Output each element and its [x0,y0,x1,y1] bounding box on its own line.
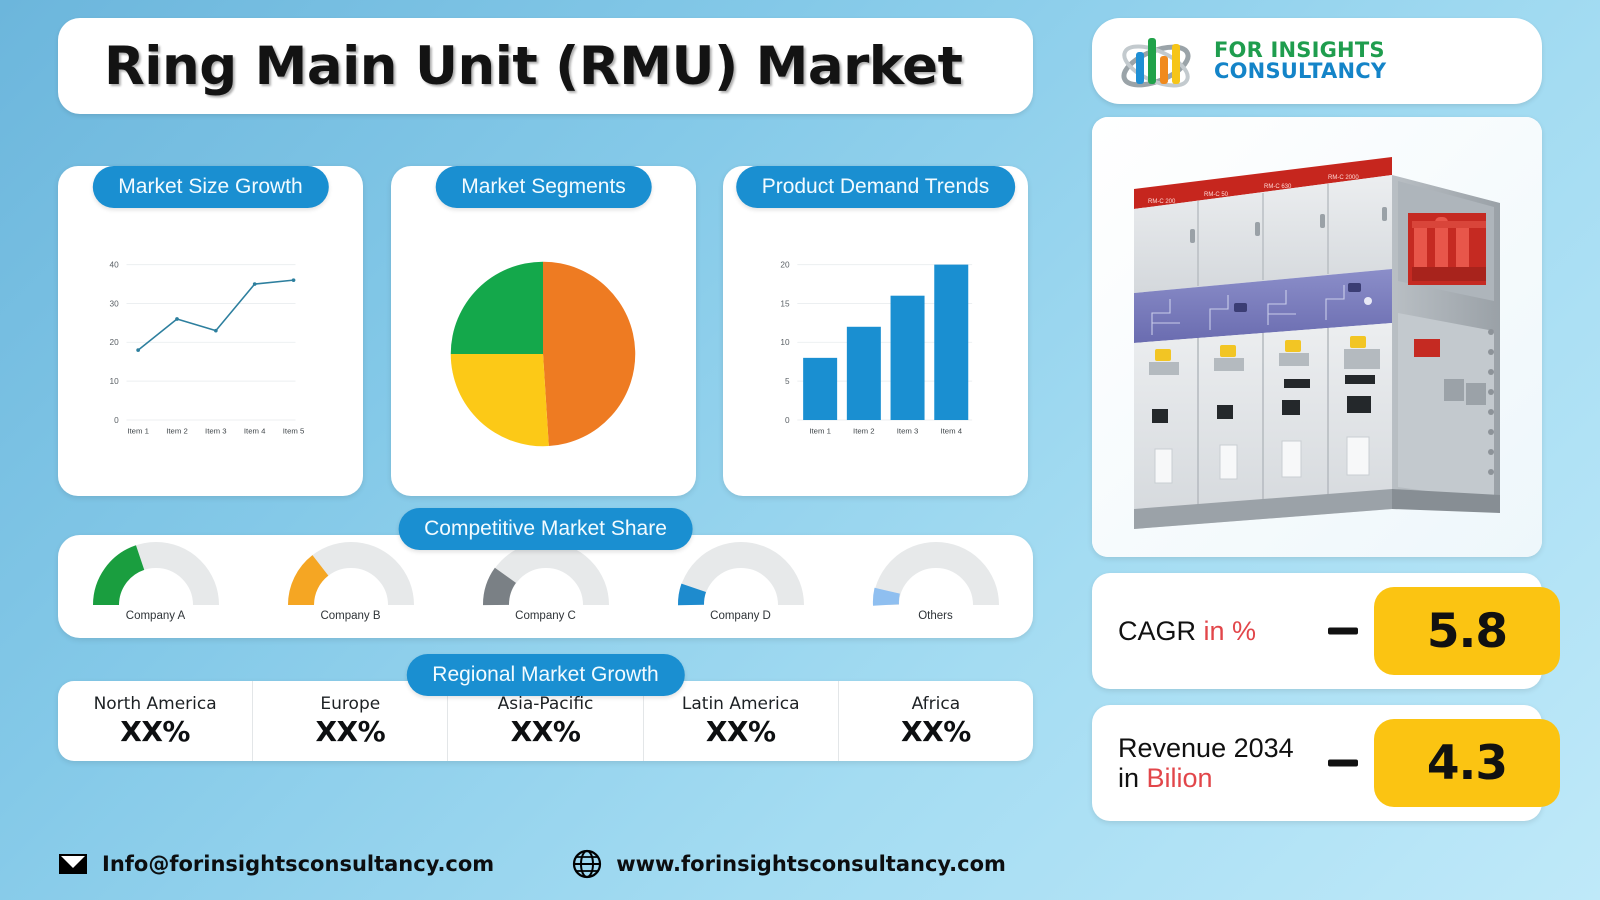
stat-dash-revenue [1328,760,1358,767]
region-value: XX% [706,715,776,748]
bar-chart-swoosh-logo-icon [1110,30,1202,92]
regional-market-growth-section: Regional Market Growth North America XX%… [58,654,1033,774]
gauge-arc-company-a [92,541,220,609]
stat-value-cagr: 5.8 [1427,604,1507,659]
gauge-company-a: Company A [78,541,233,622]
panel-title-product-demand: Product Demand Trends [736,166,1016,208]
region-value: XX% [120,715,190,748]
gauge-label-company-a: Company A [78,610,233,622]
gauge-arc-company-c [482,541,610,609]
svg-text:0: 0 [114,416,119,425]
product-demand-chart: 20 15 10 5 0 Item 1 Item 2 Item 3 Item 4 [723,218,1028,488]
product-image-card: RM-C 200RM-C 50 RM-C 630RM-C 2000 [1092,117,1542,557]
region-name: Asia-Pacific [498,694,594,714]
globe-icon [572,849,602,879]
svg-text:40: 40 [110,261,120,270]
svg-text:10: 10 [110,377,120,386]
charts-row: Market Size Growth 40 30 20 10 0 [58,138,1033,498]
svg-text:Item 1: Item 1 [127,427,149,436]
page-title: Ring Main Unit (RMU) Market [104,36,962,97]
footer-email-text: Info@forinsightsconsultancy.com [102,852,494,876]
brand-logo-text: FOR INSIGHTS CONSULTANCY [1214,40,1386,83]
gauge-arc-company-b [287,541,415,609]
card-product-demand-trends: Product Demand Trends 20 15 10 5 0 [723,166,1028,496]
gauge-label-company-d: Company D [663,610,818,622]
region-value: XX% [511,715,581,748]
gauge-company-b: Company B [273,541,428,622]
gauge-label-company-b: Company B [273,610,428,622]
gauge-arc-company-d [677,541,805,609]
gauge-label-company-c: Company C [468,610,623,622]
region-name: Africa [912,694,961,714]
gauge-label-others: Others [858,610,1013,622]
svg-text:Item 4: Item 4 [244,427,266,436]
panel-title-competitive: Competitive Market Share [398,508,693,550]
footer-email[interactable]: Info@forinsightsconsultancy.com [58,849,494,879]
bar-chart-svg: 20 15 10 5 0 Item 1 Item 2 Item 3 Item 4 [723,218,1028,488]
svg-text:Item 1: Item 1 [809,427,831,436]
stat-pill-revenue: 4.3 [1374,719,1560,807]
panel-title-regional: Regional Market Growth [406,654,684,696]
svg-text:Item 4: Item 4 [940,427,962,436]
card-market-size-growth: Market Size Growth 40 30 20 10 0 [58,166,363,496]
brand-logo-card[interactable]: FOR INSIGHTS CONSULTANCY [1092,18,1542,104]
page-title-card: Ring Main Unit (RMU) Market [58,18,1033,114]
stat-label-revenue-red: Bilion [1147,763,1213,793]
region-cell-north-america: North America XX% [58,681,253,761]
competitive-market-share-section: Competitive Market Share Company A Compa… [58,508,1033,648]
stat-label-revenue-black2: in [1118,763,1147,793]
logo-line-1: FOR INSIGHTS [1214,40,1386,61]
region-name: North America [94,694,217,714]
svg-text:Item 2: Item 2 [853,427,875,436]
gauge-arc-others [872,541,1000,609]
stat-dash-cagr [1328,628,1358,635]
gauges-card: Company A Company B Company C [58,535,1033,638]
card-market-segments: Market Segments [391,166,696,496]
ring-main-unit-switchgear-cabinet-image: RM-C 200RM-C 50 RM-C 630RM-C 2000 [1092,117,1542,557]
stat-value-revenue: 4.3 [1427,736,1507,791]
gauge-others: Others [858,541,1013,622]
footer-website[interactable]: www.forinsightsconsultancy.com [572,849,1006,879]
svg-text:10: 10 [780,338,790,347]
region-name: Latin America [682,694,800,714]
panel-title-market-segments: Market Segments [435,166,652,208]
envelope-icon [58,849,88,879]
svg-text:15: 15 [780,299,790,308]
logo-line-2: CONSULTANCY [1214,61,1386,82]
svg-text:Item 3: Item 3 [897,427,919,436]
footer-website-text: www.forinsightsconsultancy.com [616,852,1006,876]
stat-card-cagr: CAGR in % 5.8 [1092,573,1542,689]
svg-text:5: 5 [785,377,790,386]
line-chart-svg: 40 30 20 10 0 Item 1 Item 2 Item 3 [58,218,363,488]
stat-label-revenue: Revenue 2034in Bilion [1118,733,1294,793]
svg-text:30: 30 [110,299,120,308]
stat-label-revenue-black: Revenue 2034 [1118,733,1294,763]
stat-label-cagr: CAGR in % [1118,616,1256,646]
svg-text:Item 3: Item 3 [205,427,227,436]
svg-text:Item 2: Item 2 [166,427,188,436]
svg-text:20: 20 [110,338,120,347]
region-value: XX% [901,715,971,748]
market-segments-chart [391,218,696,488]
svg-text:0: 0 [785,416,790,425]
market-size-chart: 40 30 20 10 0 Item 1 Item 2 Item 3 [58,218,363,488]
stat-label-cagr-red: in % [1204,616,1257,646]
region-name: Europe [320,694,380,714]
stat-card-revenue: Revenue 2034in Bilion 4.3 [1092,705,1542,821]
stat-label-cagr-black: CAGR [1118,616,1204,646]
region-cell-africa: Africa XX% [839,681,1033,761]
footer: Info@forinsightsconsultancy.com www.fori… [58,844,1033,884]
region-value: XX% [315,715,385,748]
pie-chart-svg [391,218,696,488]
svg-text:20: 20 [780,261,790,270]
left-column: Ring Main Unit (RMU) Market Market Size … [58,18,1033,828]
gauge-company-c: Company C [468,541,623,622]
svg-text:Item 5: Item 5 [283,427,305,436]
panel-title-market-size: Market Size Growth [92,166,328,208]
gauge-company-d: Company D [663,541,818,622]
stat-pill-cagr: 5.8 [1374,587,1560,675]
right-column: FOR INSIGHTS CONSULTANCY [1092,18,1542,828]
